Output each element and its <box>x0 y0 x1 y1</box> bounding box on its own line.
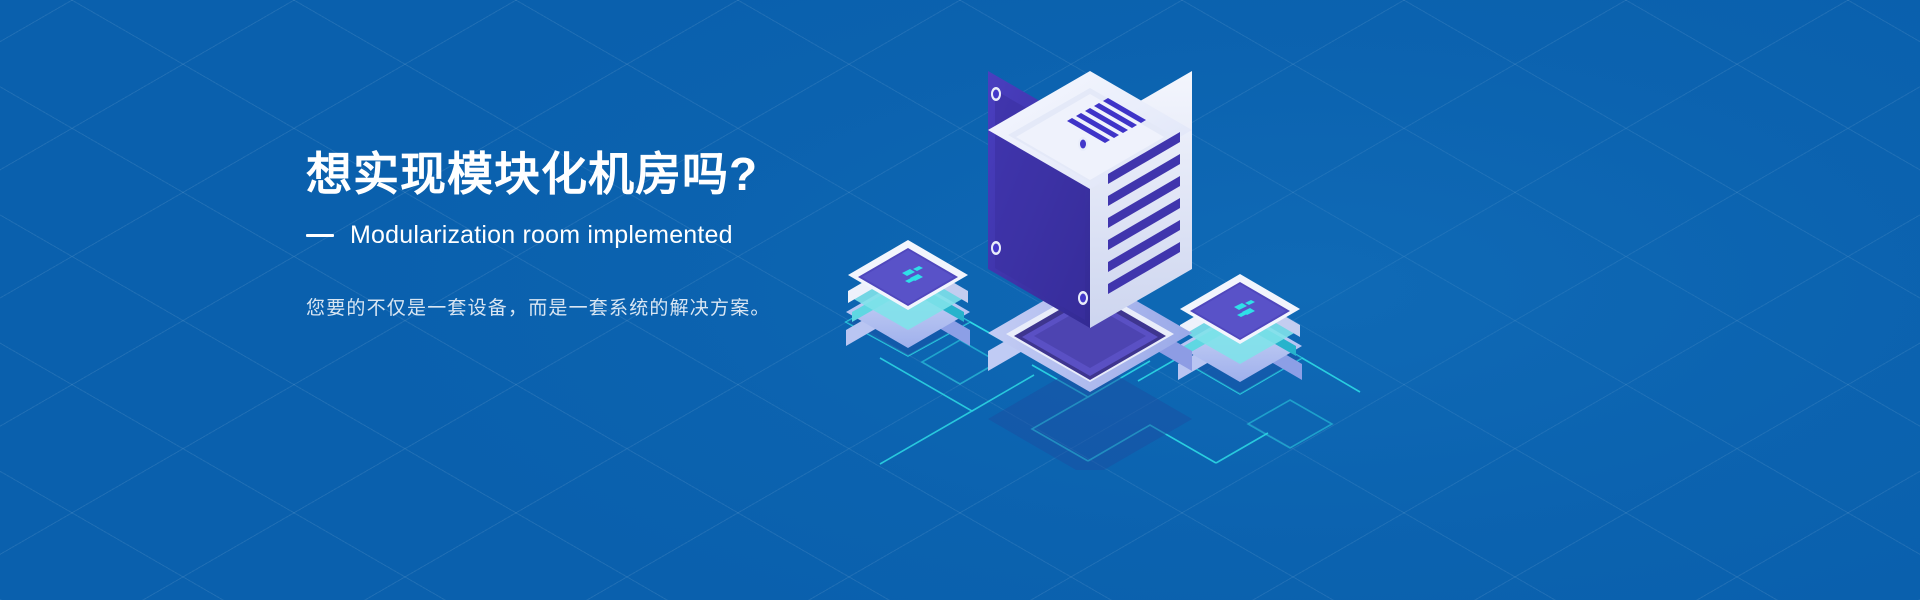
subheadline: Modularization room implemented <box>350 221 733 250</box>
accent-dash-icon <box>306 234 334 237</box>
hero-banner: 想实现模块化机房吗? Modularization room implement… <box>0 0 1920 600</box>
isometric-server-illustration <box>820 70 1440 470</box>
server-cabinet <box>988 71 1192 392</box>
chip-module-right <box>1178 274 1302 382</box>
chip-module-left <box>846 240 970 348</box>
